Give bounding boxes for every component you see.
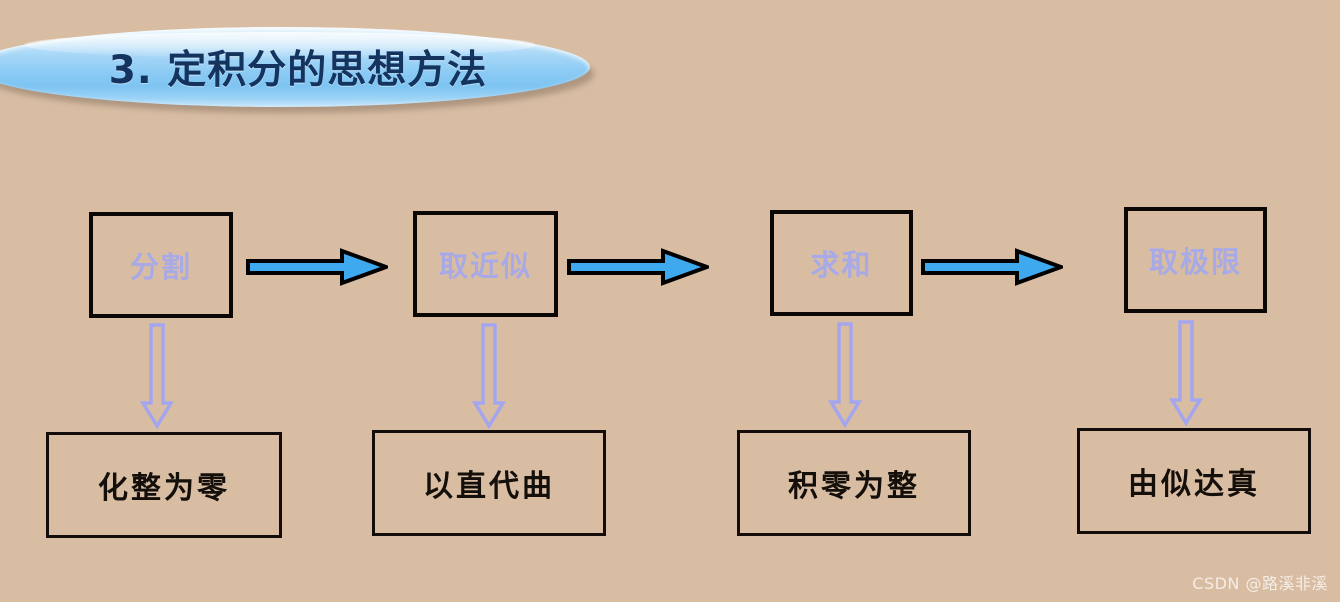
top-box-3[interactable]: 求和 [770,210,913,316]
top-box-3-label: 求和 [810,242,872,284]
bottom-box-2[interactable]: 以直代曲 [372,430,606,536]
csdn-watermark: CSDN @路溪非溪 [1192,570,1328,594]
top-box-4-label: 取极限 [1149,239,1242,281]
bottom-box-4-label: 由似达真 [1128,459,1260,503]
arrow-down-icon-1 [140,323,174,429]
bottom-box-4[interactable]: 由似达真 [1077,428,1311,534]
top-box-1-label: 分割 [130,244,192,286]
top-box-2-label: 取近似 [439,243,532,285]
arrow-right-icon-1 [246,248,388,286]
bottom-box-1-label: 化整为零 [98,463,230,507]
top-box-1[interactable]: 分割 [89,212,233,318]
top-box-2[interactable]: 取近似 [413,211,558,317]
bottom-box-3[interactable]: 积零为整 [737,430,971,536]
bottom-box-3-label: 积零为整 [788,461,920,505]
title-banner: 3. 定积分的思想方法 [0,27,592,109]
bottom-box-2-label: 以直代曲 [423,461,555,505]
arrow-down-icon-2 [472,323,506,429]
page-title: 3. 定积分的思想方法 [0,27,590,107]
arrow-down-icon-3 [828,322,862,428]
top-box-4[interactable]: 取极限 [1124,207,1267,313]
arrow-down-icon-4 [1169,320,1203,426]
arrow-right-icon-3 [921,248,1063,286]
bottom-box-1[interactable]: 化整为零 [46,432,282,538]
arrow-right-icon-2 [567,248,709,286]
slide-canvas: 3. 定积分的思想方法 分割 取近似 求和 取极限 化整为零 以直代曲 [0,0,1340,602]
